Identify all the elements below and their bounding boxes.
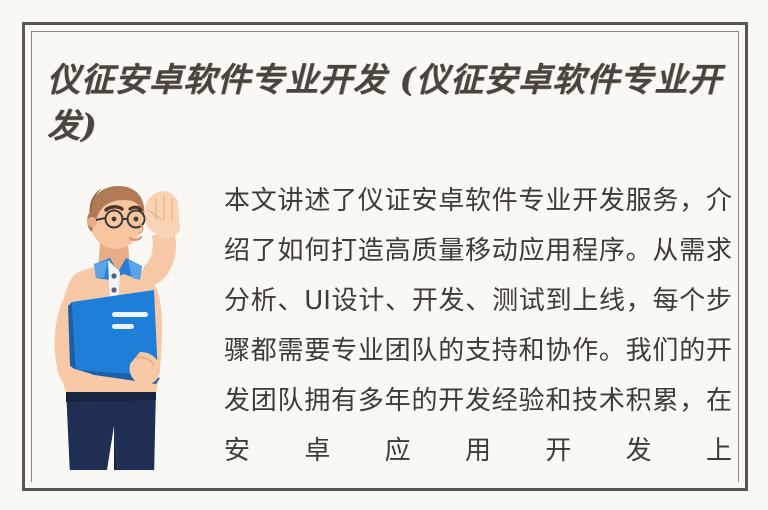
illustration-man-waving-holding-book [44, 176, 214, 476]
article-body-block: 本文讲述了仪证安卓软件专业开发服务，介绍了如何打造高质量移动应用程序。从需求分析… [224, 176, 732, 476]
article-title-block: 仪征安卓软件专业开发 (仪征安卓软件专业开发) [47, 57, 727, 149]
page-title: 仪征安卓软件专业开发 (仪征安卓软件专业开发) [47, 57, 727, 149]
article-body-text: 本文讲述了仪证安卓软件专业开发服务，介绍了如何打造高质量移动应用程序。从需求分析… [224, 176, 732, 476]
article-page: 仪征安卓软件专业开发 (仪征安卓软件专业开发) [0, 0, 768, 510]
